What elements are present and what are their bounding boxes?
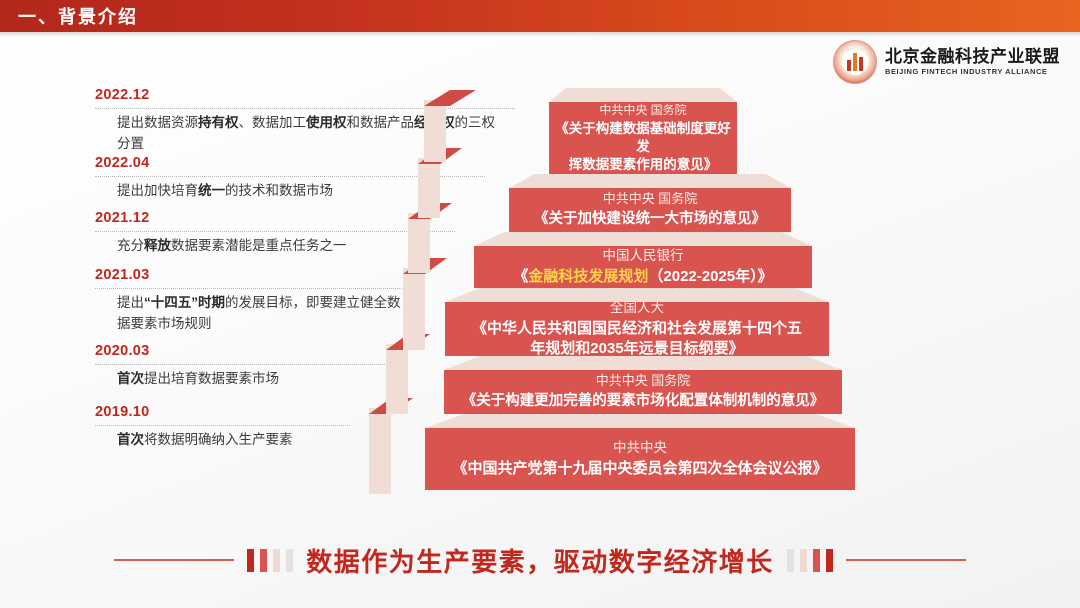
banner-rule-left xyxy=(114,559,234,561)
timeline-connector-line xyxy=(95,364,385,365)
step-block-face: 中共中央 国务院《关于构建数据基础制度更好发挥数据要素作用的意见》 xyxy=(549,102,737,174)
step-block-top-face xyxy=(509,174,791,188)
timeline-item: 2019.10首次将数据明确纳入生产要素 xyxy=(95,405,350,451)
policy-document-title: 《中国共产党第十九届中央委员会第四次全体会议公报》 xyxy=(452,459,827,479)
policy-step-block: 全国人大《中华人民共和国国民经济和社会发展第十四个五年规划和2035年远景目标纲… xyxy=(445,288,829,356)
timeline-description: 提出“十四五”时期的发展目标，即要建立健全数据要素市场规则 xyxy=(95,293,412,335)
timeline-connector-line xyxy=(95,425,350,426)
banner-left-tick xyxy=(247,549,254,572)
policy-issuer: 中共中央 国务院 xyxy=(603,190,698,208)
timeline-description: 提出加快培育统一的技术和数据市场 xyxy=(95,181,477,202)
step-block-face: 全国人大《中华人民共和国国民经济和社会发展第十四个五年规划和2035年远景目标纲… xyxy=(445,302,829,356)
banner-ticks-left xyxy=(247,549,293,572)
policy-document-title: 《中华人民共和国国民经济和社会发展第十四个五年规划和2035年远景目标纲要》 xyxy=(472,319,802,360)
banner-left-tick xyxy=(260,549,267,572)
banner-right-tick xyxy=(800,549,807,572)
timeline-description: 首次提出培育数据要素市场 xyxy=(95,369,377,390)
timeline-connector-line xyxy=(95,108,515,109)
timeline-description: 首次将数据明确纳入生产要素 xyxy=(95,430,342,451)
policy-step-block: 中国人民银行《金融科技发展规划（2022-2025年）》 xyxy=(474,232,812,288)
policy-issuer: 中共中央 国务院 xyxy=(599,102,686,118)
timeline-description: 充分释放数据要素潜能是重点任务之一 xyxy=(95,236,447,257)
timeline-connector-line xyxy=(95,288,420,289)
step-block-top-face xyxy=(474,232,812,246)
policy-issuer: 全国人大 xyxy=(610,299,664,317)
brand-logo: 北京金融科技产业联盟 BEIJING FINTECH INDUSTRY ALLI… xyxy=(833,40,1060,84)
timeline-year: 2022.12 xyxy=(95,88,515,104)
timeline-connector-line xyxy=(95,176,485,177)
policy-step-block: 中共中央《中国共产党第十九届中央委员会第四次全体会议公报》 xyxy=(425,414,855,490)
step-block-face: 中共中央 国务院《关于加快建设统一大市场的意见》 xyxy=(509,188,791,232)
timeline-item: 2022.12提出数据资源持有权、数据加工使用权和数据产品经营权的三权分置 xyxy=(95,88,515,155)
banner-text: 数据作为生产要素，驱动数字经济增长 xyxy=(306,542,774,579)
timeline-item: 2022.04提出加快培育统一的技术和数据市场 xyxy=(95,156,485,202)
banner-right-tick xyxy=(787,549,794,572)
timeline-year: 2021.12 xyxy=(95,211,455,227)
header-shadow xyxy=(0,32,1080,37)
policy-document-title: 《金融科技发展规划（2022-2025年）》 xyxy=(513,267,772,287)
banner-ticks-right xyxy=(787,549,833,572)
banner-left-tick xyxy=(273,549,280,572)
step-block-top-face xyxy=(549,88,737,102)
policy-step-block: 中共中央 国务院《关于构建更加完善的要素市场化配置体制机制的意见》 xyxy=(444,356,842,414)
page-title: 一、背景介绍 xyxy=(18,3,138,29)
brand-text: 北京金融科技产业联盟 BEIJING FINTECH INDUSTRY ALLI… xyxy=(885,48,1060,76)
timeline-year: 2019.10 xyxy=(95,405,350,421)
alliance-emblem-icon xyxy=(833,40,877,84)
step-block-face: 中国人民银行《金融科技发展规划（2022-2025年）》 xyxy=(474,246,812,288)
policy-issuer: 中国人民银行 xyxy=(603,247,684,265)
timeline-description: 提出数据资源持有权、数据加工使用权和数据产品经营权的三权分置 xyxy=(95,113,507,155)
stair-riser xyxy=(369,408,391,494)
step-block-top-face xyxy=(445,288,829,302)
banner-rule-right xyxy=(846,559,966,561)
policy-step-block: 中共中央 国务院《关于加快建设统一大市场的意见》 xyxy=(509,174,791,232)
step-block-face: 中共中央 国务院《关于构建更加完善的要素市场化配置体制机制的意见》 xyxy=(444,370,842,414)
step-block-top-face xyxy=(425,414,855,428)
timeline-year: 2020.03 xyxy=(95,344,385,360)
policy-issuer: 中共中央 国务院 xyxy=(596,372,691,390)
brand-name-cn: 北京金融科技产业联盟 xyxy=(885,48,1060,65)
emblem-bars-icon xyxy=(845,53,865,71)
summary-banner: 数据作为生产要素，驱动数字经济增长 xyxy=(0,538,1080,582)
step-block-face: 中共中央《中国共产党第十九届中央委员会第四次全体会议公报》 xyxy=(425,428,855,490)
banner-right-tick xyxy=(813,549,820,572)
policy-document-title: 《关于构建更加完善的要素市场化配置体制机制的意见》 xyxy=(462,392,825,412)
page-header: 一、背景介绍 xyxy=(0,0,1080,32)
timeline-year: 2021.03 xyxy=(95,268,420,284)
timeline-connector-line xyxy=(95,231,455,232)
timeline-item: 2021.12充分释放数据要素潜能是重点任务之一 xyxy=(95,211,455,257)
step-block-top-face xyxy=(444,356,842,370)
stair-tread xyxy=(386,334,430,350)
banner-left-tick xyxy=(286,549,293,572)
banner-right-tick xyxy=(826,549,833,572)
stair-tread xyxy=(369,398,413,414)
brand-name-en: BEIJING FINTECH INDUSTRY ALLIANCE xyxy=(885,68,1060,76)
policy-document-title: 《关于构建数据基础制度更好发挥数据要素作用的意见》 xyxy=(549,120,737,175)
policy-document-title: 《关于加快建设统一大市场的意见》 xyxy=(534,210,766,230)
policy-issuer: 中共中央 xyxy=(613,439,667,457)
stair-riser xyxy=(386,344,408,414)
policy-step-block: 中共中央 国务院《关于构建数据基础制度更好发挥数据要素作用的意见》 xyxy=(549,88,737,174)
timeline-year: 2022.04 xyxy=(95,156,485,172)
timeline-item: 2021.03提出“十四五”时期的发展目标，即要建立健全数据要素市场规则 xyxy=(95,268,420,335)
timeline-item: 2020.03首次提出培育数据要素市场 xyxy=(95,344,385,390)
